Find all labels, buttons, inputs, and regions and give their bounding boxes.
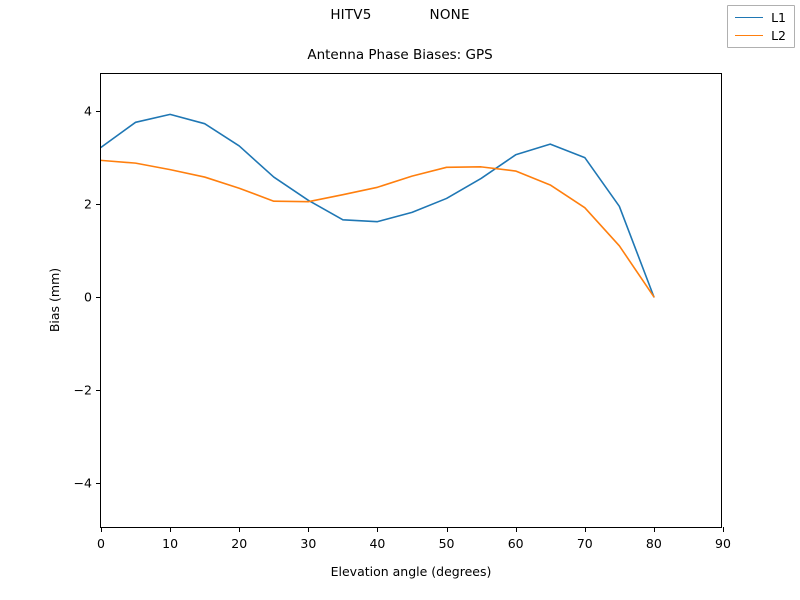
x-axis-tick-label: 90 (715, 536, 731, 551)
x-axis-tick (654, 527, 655, 532)
series-lines (101, 74, 723, 529)
y-axis-label: Bias (mm) (47, 268, 62, 332)
x-axis-tick-label: 10 (162, 536, 178, 551)
chart-title: Antenna Phase Biases: GPS (0, 47, 800, 63)
plot-area: −4−20240102030405060708090 (100, 73, 722, 528)
x-axis-label: Elevation angle (degrees) (100, 564, 722, 579)
x-axis-tick (239, 527, 240, 532)
x-axis-tick (516, 527, 517, 532)
y-axis-tick-label: 0 (84, 289, 92, 304)
y-axis-tick (96, 204, 101, 205)
x-axis-tick (308, 527, 309, 532)
antenna-name: HITV5 (330, 7, 371, 23)
legend-swatch-l2 (735, 35, 763, 36)
y-axis-label-container: Bias (mm) (46, 73, 66, 528)
radome-name: NONE (430, 7, 470, 23)
x-axis-tick-label: 40 (369, 536, 385, 551)
chart-legend: L1L2 (727, 5, 795, 48)
legend-swatch-l1 (735, 17, 763, 18)
x-axis-tick (101, 527, 102, 532)
series-line-l1 (101, 114, 654, 296)
y-axis-tick-label: 4 (84, 104, 92, 119)
figure-canvas: HITV5NONE Antenna Phase Biases: GPS Bias… (0, 0, 800, 600)
x-axis-tick (377, 527, 378, 532)
y-axis-tick (96, 297, 101, 298)
y-axis-tick (96, 111, 101, 112)
legend-label: L2 (771, 29, 786, 42)
legend-item-l1[interactable]: L1 (735, 11, 786, 24)
x-axis-tick (170, 527, 171, 532)
x-axis-tick-label: 20 (231, 536, 247, 551)
y-axis-tick-label: −4 (74, 475, 92, 490)
y-axis-tick (96, 483, 101, 484)
x-axis-tick-label: 50 (439, 536, 455, 551)
series-line-l2 (101, 160, 654, 296)
x-axis-tick (723, 527, 724, 532)
x-axis-tick-label: 0 (97, 536, 105, 551)
y-axis-tick (96, 390, 101, 391)
y-axis-tick-label: 2 (84, 197, 92, 212)
x-axis-tick (585, 527, 586, 532)
x-axis-tick (447, 527, 448, 532)
x-axis-tick-label: 80 (646, 536, 662, 551)
x-axis-tick-label: 30 (300, 536, 316, 551)
legend-item-l2[interactable]: L2 (735, 29, 786, 42)
legend-label: L1 (771, 11, 786, 24)
x-axis-tick-label: 60 (508, 536, 524, 551)
figure-suptitle: HITV5NONE (0, 7, 800, 23)
x-axis-tick-label: 70 (577, 536, 593, 551)
y-axis-tick-label: −2 (74, 382, 92, 397)
